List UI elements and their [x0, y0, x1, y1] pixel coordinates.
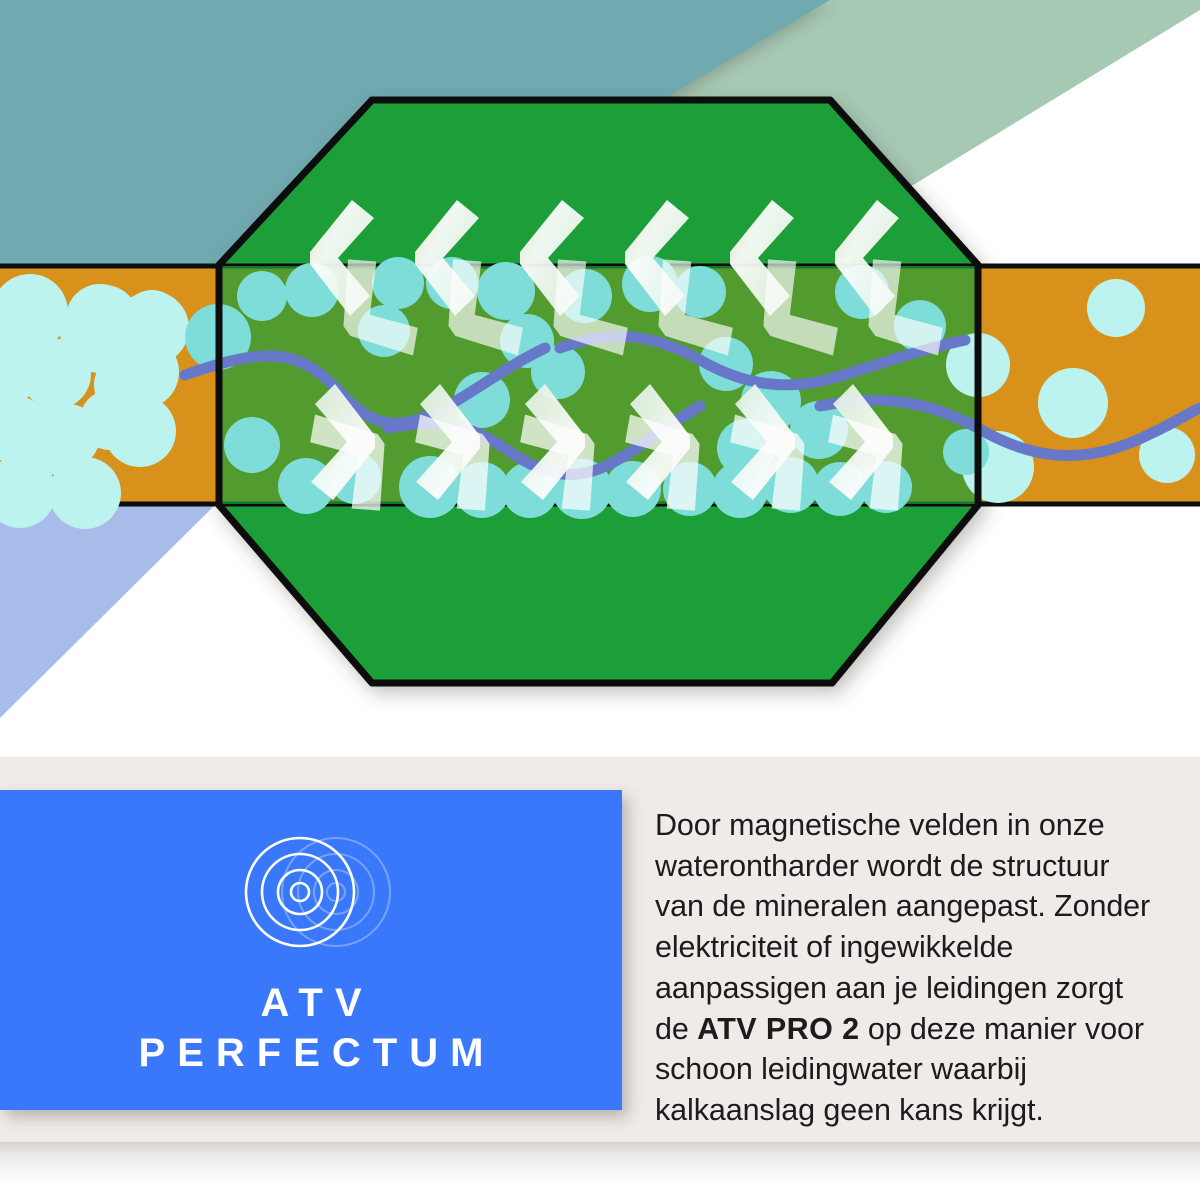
page-bottom-fade: [0, 1142, 1200, 1200]
concentric-rings-icon: [228, 828, 408, 956]
product-name: ATV PRO 2: [697, 1012, 859, 1046]
logo-text-line2: PERFECTUM: [127, 1028, 496, 1078]
illustration-bottom-fade: [0, 735, 1200, 757]
illustration-svg: [0, 0, 1200, 757]
brand-logo-card[interactable]: ATV PERFECTUM: [0, 790, 622, 1110]
water-softener-illustration: [0, 0, 1200, 757]
logo-text-line1: ATV: [248, 978, 373, 1028]
description-text: Door magnetische velden in onze wateront…: [655, 805, 1165, 1131]
info-panel: ATV PERFECTUM Door magnetische velden in…: [0, 757, 1200, 1142]
description-part1: Door magnetische velden in onze wateront…: [655, 808, 1150, 1046]
